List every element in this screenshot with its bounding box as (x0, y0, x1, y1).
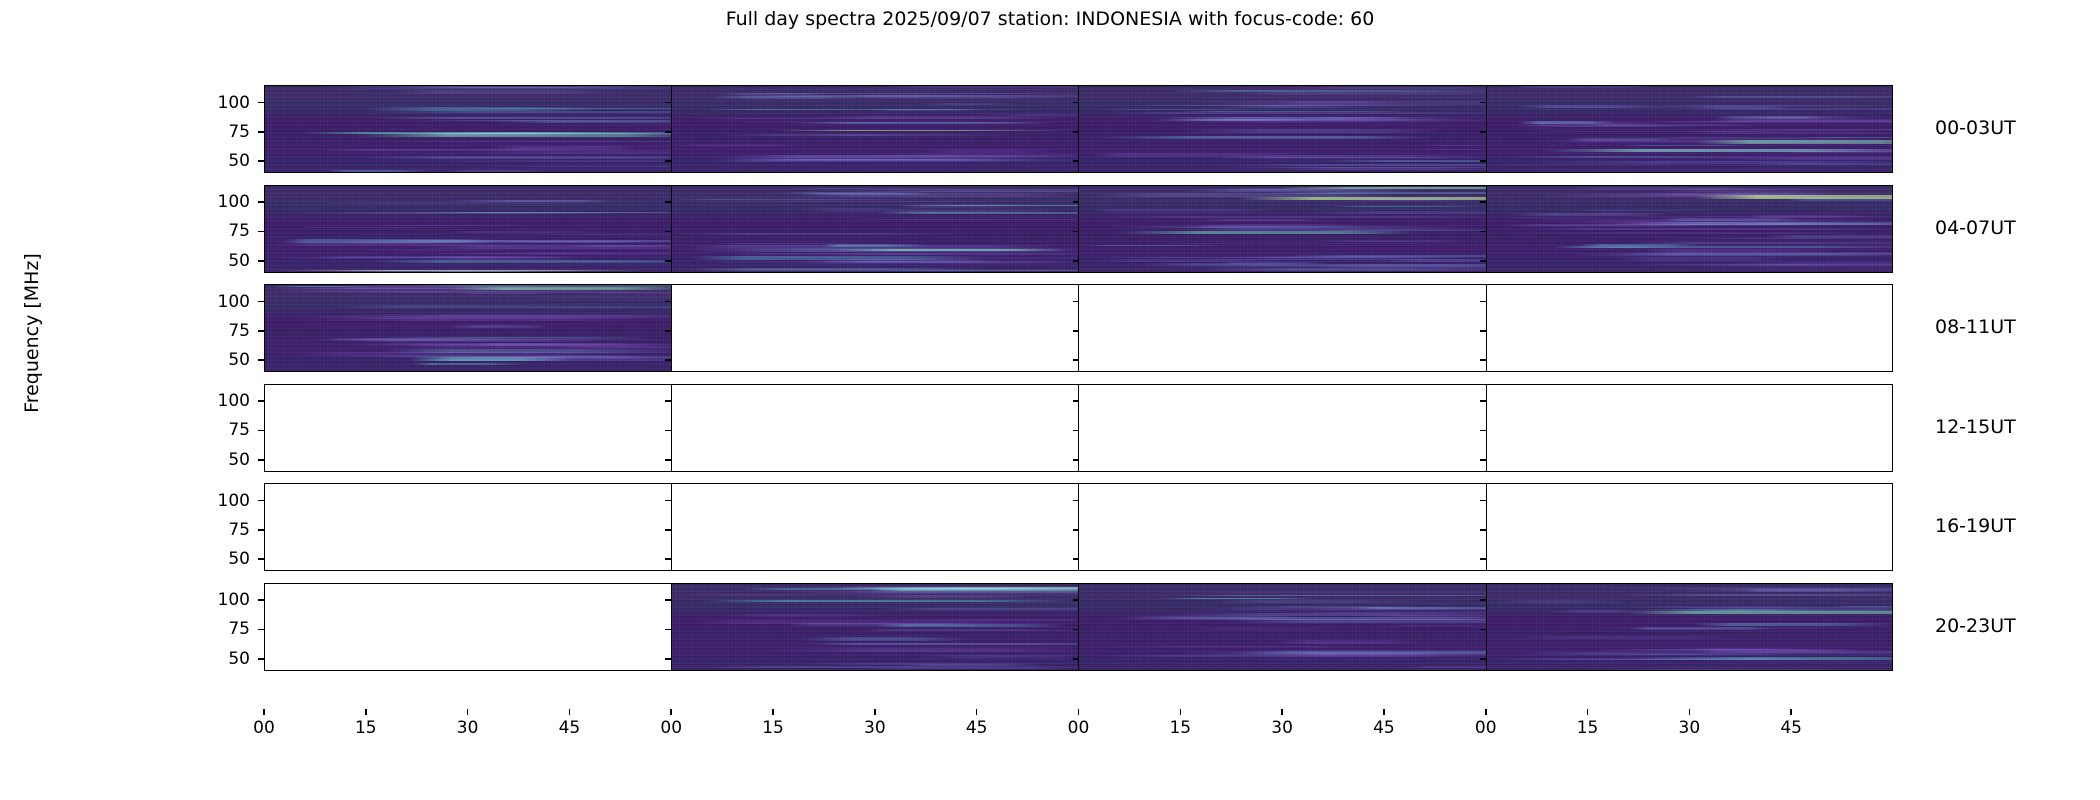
emission-band (920, 103, 1021, 104)
emission-band (1590, 649, 1879, 652)
y-tick-mark (258, 529, 264, 531)
x-tick-mark (1689, 709, 1691, 715)
emission-band (325, 170, 435, 173)
x-tick-label: 15 (762, 718, 784, 738)
y-tick-label: 75 (190, 420, 250, 440)
emission-band (679, 233, 952, 235)
y-tick-mark (258, 599, 264, 601)
y-tick-mark-interior (1073, 231, 1079, 233)
emission-band (450, 200, 624, 202)
spectrogram-panel[interactable] (672, 185, 1080, 273)
emission-band (1740, 589, 1891, 593)
emission-band (1272, 640, 1417, 644)
emission-band (1270, 192, 1487, 193)
emission-band (1195, 219, 1323, 221)
emission-band (372, 141, 672, 143)
emission-band (404, 212, 671, 213)
emission-band (1287, 167, 1486, 171)
page-title: Full day spectra 2025/09/07 station: IND… (0, 8, 2100, 30)
emission-band (1148, 243, 1486, 244)
y-tick-mark (258, 459, 264, 461)
panel-strip (264, 384, 1893, 472)
y-tick-mark (258, 558, 264, 560)
emission-band (373, 260, 671, 264)
emission-band (1306, 211, 1486, 214)
emission-band (512, 306, 672, 308)
emission-band (840, 587, 1079, 589)
emission-band (1218, 600, 1434, 603)
y-axis-label: Frequency [MHz] (21, 223, 43, 443)
spectrogram-panel[interactable] (1079, 284, 1487, 372)
emission-band (732, 253, 944, 255)
emission-band (879, 270, 1079, 271)
emission-band (1519, 121, 1617, 124)
x-tick-label: 00 (1475, 718, 1497, 738)
y-tick-mark (258, 231, 264, 233)
emission-band (1089, 109, 1269, 111)
emission-band (425, 271, 531, 272)
spectrogram-panel[interactable] (1487, 284, 1894, 372)
spectrogram-image (1079, 85, 1486, 173)
y-tick-label: 75 (190, 619, 250, 639)
emission-band (437, 160, 671, 162)
y-tick-mark-interior (1073, 160, 1079, 162)
emission-band (769, 648, 1079, 652)
spectrogram-image (264, 185, 671, 273)
y-tick-mark-interior (1073, 260, 1079, 262)
emission-band (1093, 209, 1274, 212)
x-tick-label: 30 (1679, 718, 1701, 738)
emission-band (1489, 600, 1627, 603)
x-tick-mark (569, 709, 571, 715)
y-tick-mark-interior (1073, 359, 1079, 361)
y-tick-label: 50 (190, 649, 250, 669)
emission-band (673, 144, 798, 146)
spectrogram-panel[interactable] (264, 384, 672, 472)
y-tick-mark-interior (1073, 500, 1079, 502)
emission-band (1108, 216, 1486, 218)
y-tick-mark-interior (1480, 500, 1486, 502)
emission-band (1834, 606, 1893, 607)
emission-band (1199, 224, 1358, 226)
emission-band (1240, 197, 1487, 200)
emission-band (357, 156, 671, 159)
x-tick-mark (1587, 709, 1589, 715)
emission-band (723, 614, 881, 616)
y-tick-label: 100 (190, 292, 250, 312)
y-tick-mark (258, 658, 264, 660)
y-tick-mark-interior (1073, 599, 1079, 601)
emission-band (361, 225, 538, 226)
emission-band (568, 245, 671, 247)
x-tick-mark (365, 709, 367, 715)
emission-band (877, 86, 1079, 88)
spectrogram-panel[interactable] (264, 284, 672, 372)
emission-band (703, 600, 1078, 602)
emission-band (446, 170, 545, 173)
spectrogram-panel[interactable] (1487, 583, 1894, 671)
spectrogram-row (264, 85, 1893, 173)
emission-band (1171, 90, 1486, 92)
y-tick-mark-interior (1480, 430, 1486, 432)
emission-band (1334, 206, 1486, 207)
emission-band (850, 154, 1079, 158)
spectrogram-image (1487, 583, 1894, 671)
emission-band (321, 318, 626, 321)
y-tick-mark-interior (665, 231, 671, 233)
emission-band (495, 121, 672, 123)
y-tick-label: 100 (190, 93, 250, 113)
emission-band (466, 150, 672, 154)
emission-band (352, 339, 605, 342)
y-tick-mark-interior (665, 400, 671, 402)
y-tick-label: 75 (190, 321, 250, 341)
emission-band (304, 202, 650, 203)
emission-band (308, 291, 671, 293)
x-tick-label: 15 (1577, 718, 1599, 738)
y-tick-mark (258, 330, 264, 332)
y-tick-mark (258, 430, 264, 432)
y-tick-mark-interior (1073, 102, 1079, 104)
x-tick-mark (874, 709, 876, 715)
emission-band (453, 231, 610, 233)
spectrogram-panel[interactable] (264, 483, 672, 571)
y-tick-mark-interior (1073, 558, 1079, 560)
y-tick-mark-interior (665, 558, 671, 560)
x-tick-label: 15 (355, 718, 377, 738)
emission-band (862, 629, 1079, 631)
emission-band (292, 227, 479, 228)
emission-band (685, 118, 1070, 119)
emission-band (724, 93, 1079, 94)
y-tick-mark-interior (1480, 529, 1486, 531)
x-tick-label: 00 (660, 718, 682, 738)
emission-band (1288, 87, 1486, 90)
emission-band (1223, 619, 1486, 623)
spectrogram-image (264, 85, 671, 173)
spectrogram-image (672, 185, 1079, 273)
x-tick-mark (1790, 709, 1792, 715)
row-time-label: 20-23UT (1935, 615, 2016, 637)
emission-band (1182, 595, 1487, 596)
emission-band (710, 96, 858, 99)
emission-band (1324, 160, 1486, 162)
emission-band (1628, 627, 1772, 630)
y-tick-mark-interior (1480, 260, 1486, 262)
emission-band (1804, 137, 1893, 138)
y-tick-mark-interior (665, 301, 671, 303)
y-tick-mark-interior (665, 459, 671, 461)
spectrogram-image (672, 583, 1079, 671)
emission-band (1507, 213, 1670, 216)
y-tick-mark-interior (665, 260, 671, 262)
y-tick-mark-interior (1480, 131, 1486, 133)
row-time-label: 00-03UT (1935, 117, 2016, 139)
y-tick-mark (258, 400, 264, 402)
spectrogram-panel[interactable] (1487, 185, 1894, 273)
emission-band (1703, 651, 1893, 655)
emission-band (1144, 263, 1324, 265)
y-tick-mark-interior (1073, 400, 1079, 402)
emission-band (821, 261, 1079, 263)
y-tick-mark-interior (665, 658, 671, 660)
emission-band (1097, 646, 1364, 647)
emission-band (1624, 594, 1893, 596)
emission-band (919, 655, 1079, 658)
emission-band (1190, 592, 1487, 593)
emission-band (687, 245, 1058, 248)
emission-band (849, 590, 1079, 593)
emission-band (315, 86, 671, 89)
spectrogram-panel[interactable] (1079, 85, 1487, 173)
spectrogram-row (264, 185, 1893, 273)
emission-band (1694, 195, 1893, 198)
spectrogram-panel[interactable] (1079, 483, 1487, 571)
emission-band (1670, 238, 1893, 240)
emission-band (1544, 139, 1893, 143)
y-tick-mark-interior (1073, 529, 1079, 531)
emission-band (273, 286, 371, 287)
y-tick-mark-interior (1073, 131, 1079, 133)
spectrogram-panel[interactable] (264, 85, 672, 173)
emission-band (829, 249, 1066, 251)
spectrogram-row (264, 483, 1893, 571)
spectrogram-image (1487, 85, 1894, 173)
emission-band (375, 337, 653, 338)
y-tick-mark-interior (665, 529, 671, 531)
emission-band (396, 90, 619, 94)
emission-band (367, 117, 671, 119)
emission-band (712, 666, 1079, 668)
emission-band (1199, 268, 1487, 271)
y-tick-mark (258, 629, 264, 631)
emission-band (884, 608, 1079, 610)
spectrogram-panel[interactable] (672, 284, 1080, 372)
y-tick-mark (258, 102, 264, 104)
emission-band (1502, 636, 1751, 639)
spectrogram-image (1079, 583, 1486, 671)
emission-band (685, 594, 828, 595)
spectrogram-panel[interactable] (672, 483, 1080, 571)
emission-band (1151, 117, 1405, 120)
x-tick-label: 15 (1169, 718, 1191, 738)
y-tick-mark (258, 359, 264, 361)
x-tick-label: 00 (253, 718, 275, 738)
x-tick-mark (1485, 709, 1487, 715)
row-time-label: 12-15UT (1935, 416, 2016, 438)
emission-band (1183, 129, 1441, 132)
emission-band (1616, 257, 1792, 261)
emission-band (1234, 651, 1487, 653)
emission-band (750, 159, 1047, 161)
emission-band (1522, 131, 1791, 132)
y-tick-mark-interior (1480, 459, 1486, 461)
emission-band (468, 343, 671, 346)
spectrogram-panel[interactable] (1487, 483, 1894, 571)
spectrogram-panel[interactable] (1487, 384, 1894, 472)
emission-band (446, 108, 672, 109)
emission-band (1412, 145, 1486, 146)
emission-band (827, 219, 1079, 220)
y-tick-label: 50 (190, 549, 250, 569)
y-tick-mark-interior (1073, 430, 1079, 432)
emission-band (469, 371, 570, 372)
emission-band (467, 234, 672, 235)
row-time-label: 08-11UT (1935, 316, 2016, 338)
emission-band (475, 252, 672, 255)
y-tick-mark-interior (665, 102, 671, 104)
y-tick-label: 75 (190, 221, 250, 241)
emission-band (1180, 228, 1486, 231)
emission-band (1241, 92, 1487, 95)
emission-band (1166, 613, 1486, 616)
emission-band (1530, 228, 1893, 231)
y-tick-label: 75 (190, 122, 250, 142)
emission-band (344, 240, 671, 242)
y-tick-label: 100 (190, 491, 250, 511)
spectrogram-image (1487, 185, 1894, 273)
emission-band (1552, 210, 1716, 211)
y-tick-mark-interior (1480, 160, 1486, 162)
x-tick-mark (670, 709, 672, 715)
y-tick-mark-interior (665, 599, 671, 601)
spectrogram-row (264, 583, 1893, 671)
emission-band (896, 205, 1079, 206)
y-tick-mark-interior (665, 430, 671, 432)
y-tick-mark-interior (1480, 330, 1486, 332)
spectrogram-panel[interactable] (672, 583, 1080, 671)
emission-band (1180, 101, 1486, 105)
y-tick-mark-interior (1073, 658, 1079, 660)
spectrogram-image (264, 284, 671, 372)
y-tick-mark-interior (1073, 330, 1079, 332)
emission-band (489, 146, 637, 150)
emission-band (1627, 222, 1893, 225)
emission-band (410, 359, 571, 361)
y-tick-label: 75 (190, 520, 250, 540)
x-axis: 00153045001530450015304500153045 (0, 709, 2100, 769)
emission-band (690, 256, 981, 259)
emission-band (1626, 611, 1893, 615)
emission-band (869, 109, 983, 111)
x-tick-mark (1281, 709, 1283, 715)
emission-band (1692, 623, 1893, 625)
emission-band (837, 201, 1079, 202)
emission-band (1112, 112, 1486, 114)
x-tick-mark (1383, 709, 1385, 715)
emission-band (292, 326, 619, 327)
emission-band (842, 191, 1079, 193)
y-tick-mark-interior (1073, 629, 1079, 631)
y-tick-label: 50 (190, 251, 250, 271)
y-tick-mark (258, 160, 264, 162)
spectrogram-image (672, 85, 1079, 173)
y-tick-mark-interior (1480, 231, 1486, 233)
emission-band (1602, 588, 1884, 589)
emission-band (678, 190, 817, 191)
y-tick-mark (258, 500, 264, 502)
emission-band (1624, 145, 1747, 146)
emission-band (363, 250, 518, 252)
spectrogram-panel[interactable] (1079, 384, 1487, 472)
x-tick-label: 00 (1068, 718, 1090, 738)
y-tick-mark-interior (665, 359, 671, 361)
spectrogram-row (264, 384, 1893, 472)
y-tick-label: 100 (190, 590, 250, 610)
emission-band (1098, 136, 1431, 138)
emission-band (1159, 598, 1313, 600)
emission-band (1194, 628, 1334, 630)
spectrogram-panel[interactable] (264, 185, 672, 273)
emission-band (1235, 606, 1421, 608)
spectrogram-panel[interactable] (1079, 583, 1487, 671)
emission-band (489, 297, 671, 298)
row-time-label: 16-19UT (1935, 515, 2016, 537)
emission-band (1384, 625, 1486, 626)
emission-band (1565, 187, 1757, 190)
x-tick-mark (467, 709, 469, 715)
spectrogram-panel[interactable] (1487, 85, 1894, 173)
emission-band (1588, 149, 1893, 152)
spectrogram-image (1079, 185, 1486, 273)
x-tick-label: 45 (559, 718, 581, 738)
y-tick-mark-interior (665, 500, 671, 502)
spectrogram-panel[interactable] (264, 583, 672, 671)
emission-band (354, 234, 455, 235)
emission-band (1568, 253, 1893, 256)
emission-band (1669, 108, 1893, 110)
emission-band (806, 134, 1019, 136)
emission-band (773, 192, 929, 193)
spectrogram-panel[interactable] (672, 85, 1080, 173)
y-tick-mark-interior (665, 160, 671, 162)
y-tick-mark (258, 201, 264, 203)
y-tick-label: 100 (190, 391, 250, 411)
emission-band (1749, 215, 1875, 218)
x-tick-label: 30 (864, 718, 886, 738)
emission-band (1645, 249, 1835, 253)
emission-band (777, 147, 1080, 148)
y-tick-mark-interior (1480, 102, 1486, 104)
emission-band (1087, 245, 1221, 247)
x-tick-label: 45 (1373, 718, 1395, 738)
emission-band (414, 363, 526, 365)
emission-band (1390, 149, 1486, 150)
y-tick-mark-interior (1480, 359, 1486, 361)
y-tick-mark-interior (1480, 400, 1486, 402)
emission-band (1506, 156, 1749, 159)
emission-band (854, 595, 1036, 598)
emission-band (1718, 158, 1893, 160)
spectrogram-panel[interactable] (1079, 185, 1487, 273)
spectrogram-panel[interactable] (672, 384, 1080, 472)
emission-band (1279, 187, 1486, 189)
spectrogram-row (264, 284, 1893, 372)
emission-band (1496, 658, 1828, 660)
emission-band (279, 257, 571, 260)
y-tick-label: 100 (190, 192, 250, 212)
row-time-label: 04-07UT (1935, 217, 2016, 239)
x-tick-mark (1078, 709, 1080, 715)
y-tick-mark-interior (1480, 558, 1486, 560)
emission-band (1250, 241, 1407, 242)
emission-band (799, 122, 1052, 124)
panel-strip (264, 583, 1893, 671)
y-tick-mark-interior (665, 330, 671, 332)
emission-band (1490, 164, 1717, 165)
emission-band (1590, 669, 1893, 671)
emission-band (772, 130, 1073, 131)
